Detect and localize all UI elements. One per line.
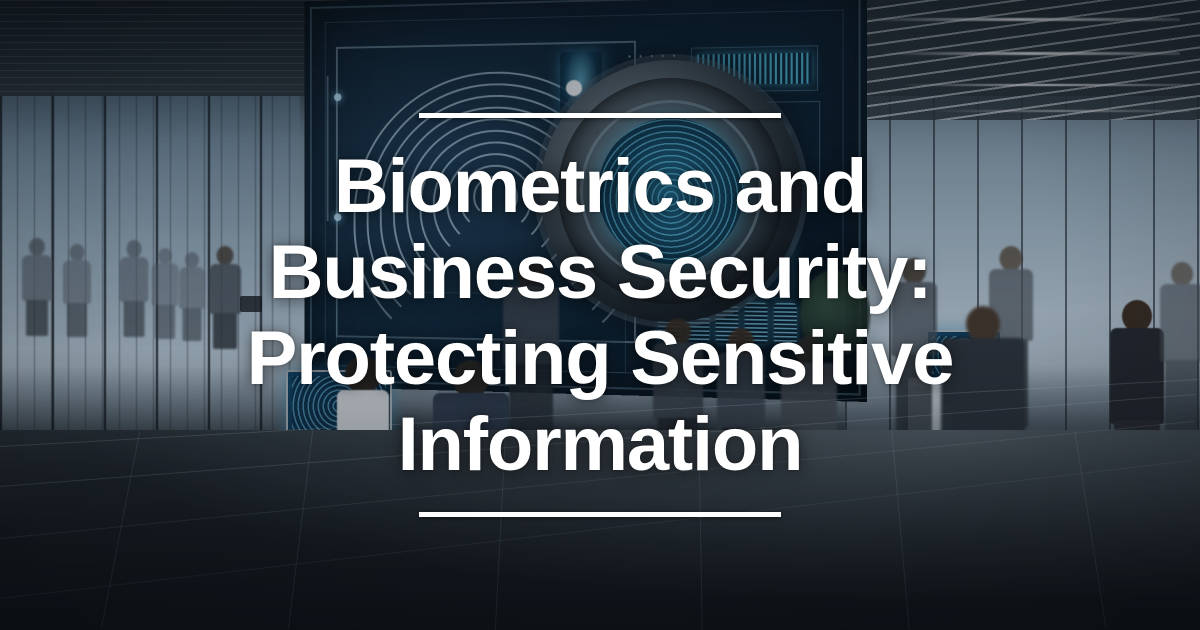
- title-line-3: Protecting Sensitive: [247, 316, 954, 402]
- divider-top: [419, 113, 781, 118]
- divider-bottom: [419, 512, 781, 517]
- title-line-2: Business Security:: [247, 230, 954, 316]
- title-line-1: Biometrics and: [247, 144, 954, 230]
- title-line-4: Information: [247, 402, 954, 488]
- title-overlay: Biometrics and Business Security: Protec…: [0, 0, 1200, 630]
- page-title: Biometrics and Business Security: Protec…: [237, 144, 964, 488]
- og-image-banner: Biometrics and Business Security: Protec…: [0, 0, 1200, 630]
